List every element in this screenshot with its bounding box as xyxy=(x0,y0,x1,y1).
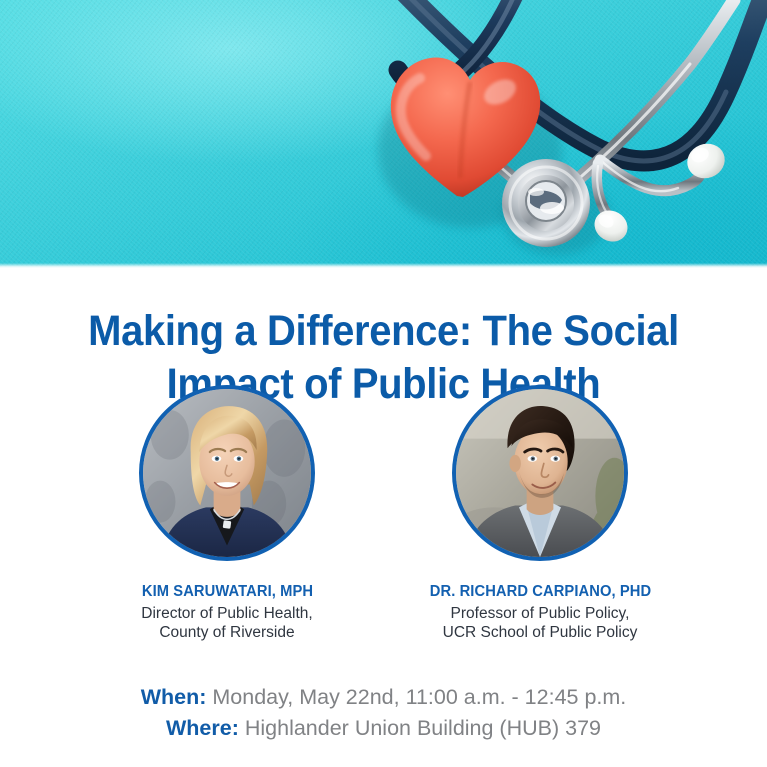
event-details: When: Monday, May 22nd, 11:00 a.m. - 12:… xyxy=(0,682,767,744)
avatar-kim-saruwatari xyxy=(139,385,315,561)
portrait-illustration-1 xyxy=(143,389,311,557)
speaker-role-2: Professor of Public Policy, UCR School o… xyxy=(413,604,668,642)
speaker-role-2-line-2: UCR School of Public Policy xyxy=(413,623,668,642)
when-label: When: xyxy=(141,685,207,709)
speakers-row: KIM SARUWATARI, MPH Director of Public H… xyxy=(0,385,767,642)
speaker-role-1-line-2: County of Riverside xyxy=(100,623,355,642)
hero-bottom-fade xyxy=(0,263,767,268)
where-label: Where: xyxy=(166,716,239,740)
speaker-role-2-line-1: Professor of Public Policy, xyxy=(413,604,668,623)
heart-stethoscope-illustration xyxy=(0,0,767,268)
title-line-1: Making a Difference: The Social xyxy=(27,305,740,358)
hero-photo xyxy=(0,0,767,268)
where-value: Highlander Union Building (HUB) 379 xyxy=(245,716,601,740)
portrait-illustration-2 xyxy=(456,389,624,557)
stethoscope-chestpiece xyxy=(502,159,590,247)
event-where-row: Where: Highlander Union Building (HUB) 3… xyxy=(0,713,767,744)
avatar-richard-carpiano xyxy=(452,385,628,561)
speaker-card-1: KIM SARUWATARI, MPH Director of Public H… xyxy=(100,385,355,642)
when-value: Monday, May 22nd, 11:00 a.m. - 12:45 p.m… xyxy=(212,685,626,709)
event-when-row: When: Monday, May 22nd, 11:00 a.m. - 12:… xyxy=(0,682,767,713)
speaker-role-1-line-1: Director of Public Health, xyxy=(100,604,355,623)
speaker-name-2: DR. RICHARD CARPIANO, PHD xyxy=(423,583,658,601)
speaker-card-2: DR. RICHARD CARPIANO, PHD Professor of P… xyxy=(413,385,668,642)
speaker-name-1: KIM SARUWATARI, MPH xyxy=(110,583,345,601)
speaker-role-1: Director of Public Health, County of Riv… xyxy=(100,604,355,642)
event-flyer: Making a Difference: The Social Impact o… xyxy=(0,0,767,767)
